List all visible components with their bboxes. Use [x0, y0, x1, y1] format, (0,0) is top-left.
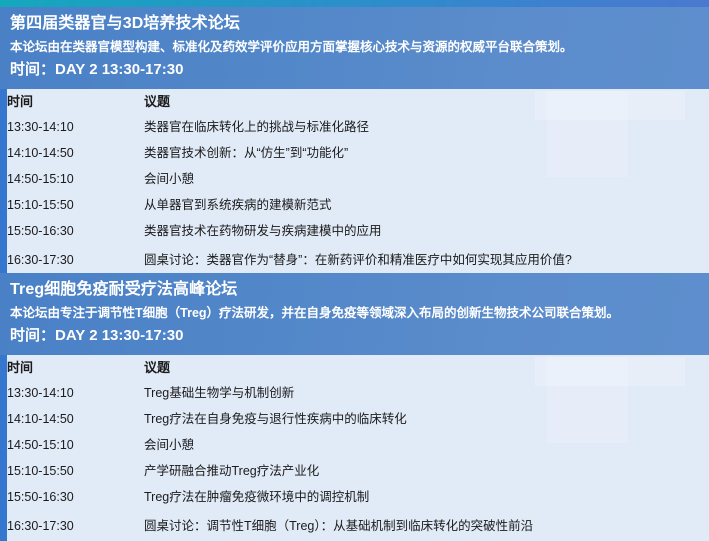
cell-time: 15:10-15:50 [7, 192, 144, 218]
table-row[interactable]: 13:30-14:10 Treg基础生物学与机制创新 [7, 380, 709, 406]
cell-time: 16:30-17:30 [7, 244, 144, 277]
cell-topic: Treg疗法在自身免疫与退行性疾病中的临床转化 [144, 406, 709, 432]
table-row[interactable]: 15:10-15:50 从单器官到系统疾病的建模新范式 [7, 192, 709, 218]
cell-topic: 圆桌讨论：类器官作为“替身”：在新药评价和精准医疗中如何实现其应用价值? [144, 244, 709, 277]
cell-topic: 类器官技术在药物研发与疾病建模中的应用 [144, 218, 709, 244]
cell-time: 14:10-14:50 [7, 140, 144, 166]
forum-description: 本论坛由专注于调节性T细胞（Treg）疗法研发，并在自身免疫等领域深入布局的创新… [10, 304, 699, 322]
cell-time: 14:50-15:10 [7, 166, 144, 192]
forum-time-label: 时间：DAY 2 13:30-17:30 [10, 60, 699, 80]
cell-topic: 产学研融合推动Treg疗法产业化 [144, 458, 709, 484]
table-row[interactable]: 15:50-16:30 Treg疗法在肿瘤免疫微环境中的调控机制 [7, 484, 709, 510]
forum-title: Treg细胞免疫耐受疗法高峰论坛 [10, 279, 699, 300]
table-row[interactable]: 14:10-14:50 Treg疗法在自身免疫与退行性疾病中的临床转化 [7, 406, 709, 432]
forum-time-label: 时间：DAY 2 13:30-17:30 [10, 326, 699, 346]
table-header-row: 时间 议题 [7, 355, 709, 380]
forum-header-2: Treg细胞免疫耐受疗法高峰论坛 本论坛由专注于调节性T细胞（Treg）疗法研发… [0, 273, 709, 355]
cell-topic: 会间小憩 [144, 432, 709, 458]
forum-header-1: 第四届类器官与3D培养技术论坛 本论坛由在类器官模型构建、标准化及药效学评价应用… [0, 7, 709, 89]
column-header-topic: 议题 [144, 355, 709, 380]
table-header-row: 时间 议题 [7, 89, 709, 114]
cell-topic: Treg疗法在肿瘤免疫微环境中的调控机制 [144, 484, 709, 510]
top-accent-bar [0, 0, 709, 7]
table-row[interactable]: 14:50-15:10 会间小憩 [7, 432, 709, 458]
column-header-time: 时间 [7, 89, 144, 114]
table-row[interactable]: 15:10-15:50 产学研融合推动Treg疗法产业化 [7, 458, 709, 484]
cell-time: 14:50-15:10 [7, 432, 144, 458]
table-row[interactable]: 14:50-15:10 会间小憩 [7, 166, 709, 192]
cell-topic: Treg基础生物学与机制创新 [144, 380, 709, 406]
cell-time: 14:10-14:50 [7, 406, 144, 432]
column-header-topic: 议题 [144, 89, 709, 114]
cell-time: 16:30-17:30 [7, 510, 144, 541]
table-row[interactable]: 16:30-17:30 圆桌讨论：调节性T细胞（Treg）：从基础机制到临床转化… [7, 510, 709, 541]
agenda-page: 第四届类器官与3D培养技术论坛 本论坛由在类器官模型构建、标准化及药效学评价应用… [0, 0, 709, 541]
cell-topic: 圆桌讨论：调节性T细胞（Treg）：从基础机制到临床转化的突破性前沿 [144, 510, 709, 541]
cell-topic: 类器官在临床转化上的挑战与标准化路径 [144, 114, 709, 140]
forum-description: 本论坛由在类器官模型构建、标准化及药效学评价应用方面掌握核心技术与资源的权威平台… [10, 38, 699, 56]
table-row[interactable]: 13:30-14:10 类器官在临床转化上的挑战与标准化路径 [7, 114, 709, 140]
forum-section-2: Treg细胞免疫耐受疗法高峰论坛 本论坛由专注于调节性T细胞（Treg）疗法研发… [0, 273, 709, 541]
cell-topic: 会间小憩 [144, 166, 709, 192]
cell-time: 15:50-16:30 [7, 218, 144, 244]
agenda-table-wrapper-1: 时间 议题 13:30-14:10 类器官在临床转化上的挑战与标准化路径 14:… [0, 89, 709, 277]
table-row[interactable]: 16:30-17:30 圆桌讨论：类器官作为“替身”：在新药评价和精准医疗中如何… [7, 244, 709, 277]
agenda-table-wrapper-2: 时间 议题 13:30-14:10 Treg基础生物学与机制创新 14:10-1… [0, 355, 709, 541]
forum-title: 第四届类器官与3D培养技术论坛 [10, 13, 699, 34]
column-header-time: 时间 [7, 355, 144, 380]
cell-topic: 类器官技术创新：从“仿生”到“功能化” [144, 140, 709, 166]
cell-time: 15:50-16:30 [7, 484, 144, 510]
forum-section-1: 第四届类器官与3D培养技术论坛 本论坛由在类器官模型构建、标准化及药效学评价应用… [0, 7, 709, 277]
table-row[interactable]: 15:50-16:30 类器官技术在药物研发与疾病建模中的应用 [7, 218, 709, 244]
agenda-table: 时间 议题 13:30-14:10 Treg基础生物学与机制创新 14:10-1… [7, 355, 709, 541]
cell-time: 13:30-14:10 [7, 380, 144, 406]
table-row[interactable]: 14:10-14:50 类器官技术创新：从“仿生”到“功能化” [7, 140, 709, 166]
cell-time: 13:30-14:10 [7, 114, 144, 140]
cell-time: 15:10-15:50 [7, 458, 144, 484]
cell-topic: 从单器官到系统疾病的建模新范式 [144, 192, 709, 218]
agenda-table: 时间 议题 13:30-14:10 类器官在临床转化上的挑战与标准化路径 14:… [7, 89, 709, 277]
